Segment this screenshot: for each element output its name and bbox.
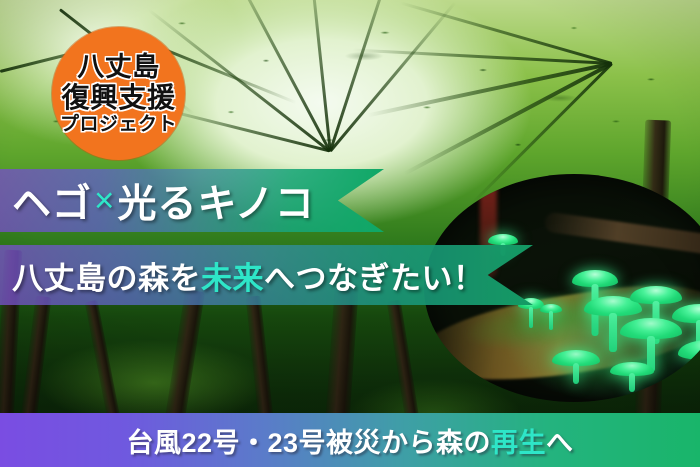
caption-part1: 台風22号・23号被災から森の [126, 428, 491, 458]
badge-line-2: 復興支援 [61, 84, 175, 112]
glowing-mushroom [552, 350, 600, 384]
cross-symbol-icon: × [92, 181, 117, 221]
badge-line-3: プロジェクト [60, 115, 177, 134]
headline-ribbon-secondary: 八丈島の森を 未来 へつなぎたい！ [0, 245, 533, 305]
headline-primary-part2: 光るキノコ [117, 173, 314, 229]
fallen-branch [544, 211, 700, 260]
glowing-mushroom [678, 340, 700, 390]
caption-bar: 台風22号・23号被災から森の再生へ [0, 413, 700, 467]
headline-ribbon-primary: ヘゴ × 光るキノコ [0, 169, 384, 232]
caption-text: 台風22号・23号被災から森の再生へ [126, 421, 573, 460]
glowing-mushroom [540, 304, 562, 330]
poster-root: 八丈島 復興支援 プロジェクト ヘゴ × 光るキノコ 八丈島の森を 未来 へつな… [0, 0, 700, 467]
headline-primary-part1: ヘゴ [12, 173, 92, 229]
headline-secondary-part1: 八丈島の森を [12, 253, 201, 298]
caption-accent: 再生 [491, 428, 546, 458]
hachijojima-recovery-project-badge: 八丈島 復興支援 プロジェクト [52, 27, 185, 160]
caption-part2: へ [546, 428, 574, 458]
headline-secondary-accent: 未来 [201, 253, 264, 298]
badge-line-1: 八丈島 [77, 54, 160, 81]
headline-secondary-part2: へつなぎたい！ [264, 253, 485, 298]
glowing-mushroom [610, 362, 654, 392]
